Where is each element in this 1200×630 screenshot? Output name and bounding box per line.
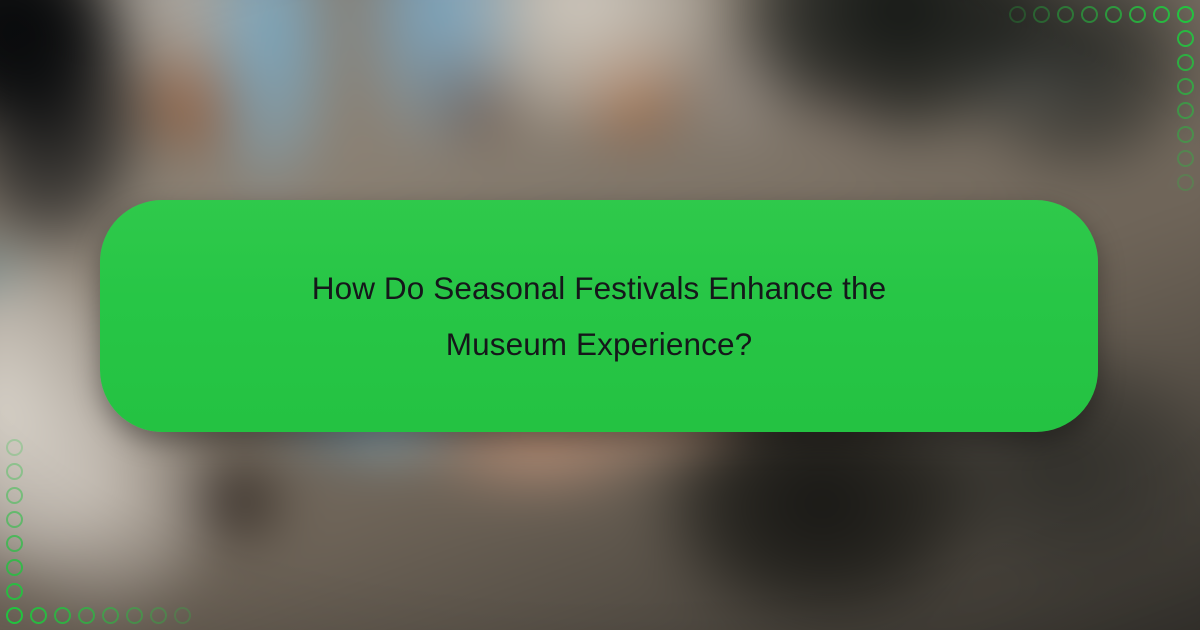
page-title: How Do Seasonal Festivals Enhance the Mu… [249, 260, 949, 372]
social-card-canvas: How Do Seasonal Festivals Enhance the Mu… [0, 0, 1200, 630]
title-card: How Do Seasonal Festivals Enhance the Mu… [100, 200, 1098, 432]
